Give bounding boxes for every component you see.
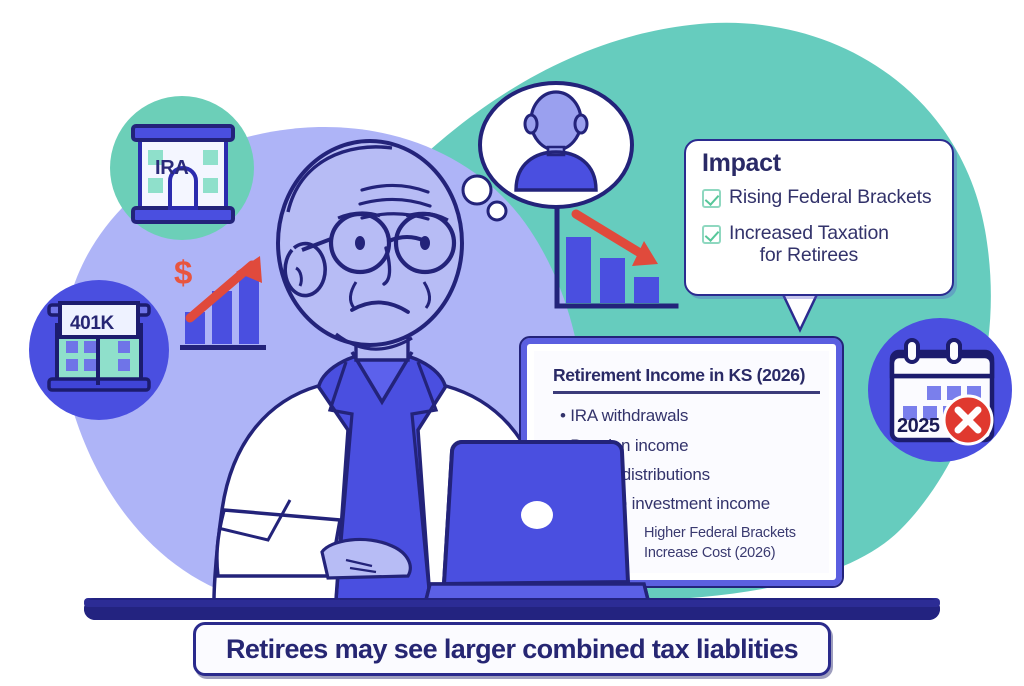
impact-callout-item: Increased Taxation for Retirees: [702, 222, 889, 266]
desk-bar: [84, 598, 940, 620]
impact-callout-title: Impact: [702, 149, 781, 178]
illustration-layer: [0, 0, 1024, 686]
impact-callout-item: Rising Federal Brackets: [702, 186, 931, 208]
retirement-income-note-line2: Increase Cost (2026): [644, 545, 775, 561]
bottom-banner: Retirees may see larger combined tax lia…: [193, 622, 831, 676]
checkbox-checked-icon: [702, 189, 721, 208]
retirement-income-item: • IRA withdrawals: [560, 406, 688, 426]
bottom-banner-text: Retirees may see larger combined tax lia…: [226, 634, 798, 665]
dollar-sign-icon: $: [174, 256, 192, 289]
impact-item-label: Rising Federal Brackets: [729, 186, 931, 208]
retirement-income-note-line1: Higher Federal Brackets: [644, 525, 796, 541]
retirement-income-note: Higher Federal Brackets Increase Cost (2…: [644, 523, 844, 563]
impact-callout-box: Impact Rising Federal Brackets Increased…: [684, 139, 954, 296]
retirement-income-divider: [553, 391, 820, 394]
red-x-icon: [944, 396, 992, 444]
impact-item-label-line2: for Retirees: [729, 244, 889, 266]
badge-401k[interactable]: [29, 280, 169, 420]
badge-401k-label: 401K: [70, 313, 114, 335]
retirement-income-title: Retirement Income in KS (2026): [553, 365, 843, 386]
retirement-income-item: • Pension income: [560, 436, 688, 456]
infographic-canvas: IRA 401K 2025 $ Retirement Income in KS …: [0, 0, 1024, 686]
impact-item-label: Increased Taxation for Retirees: [729, 222, 889, 266]
retirement-income-item: • 401(k) distributions: [560, 465, 710, 485]
badge-calendar-year-label: 2025: [897, 415, 940, 438]
badge-calendar-2025[interactable]: [868, 318, 1012, 462]
retirement-income-item: • Taxable investment income: [560, 494, 770, 514]
badge-ira-label: IRA: [155, 157, 189, 180]
checkbox-checked-icon: [702, 225, 721, 244]
impact-item-label-line1: Increased Taxation: [729, 222, 889, 244]
